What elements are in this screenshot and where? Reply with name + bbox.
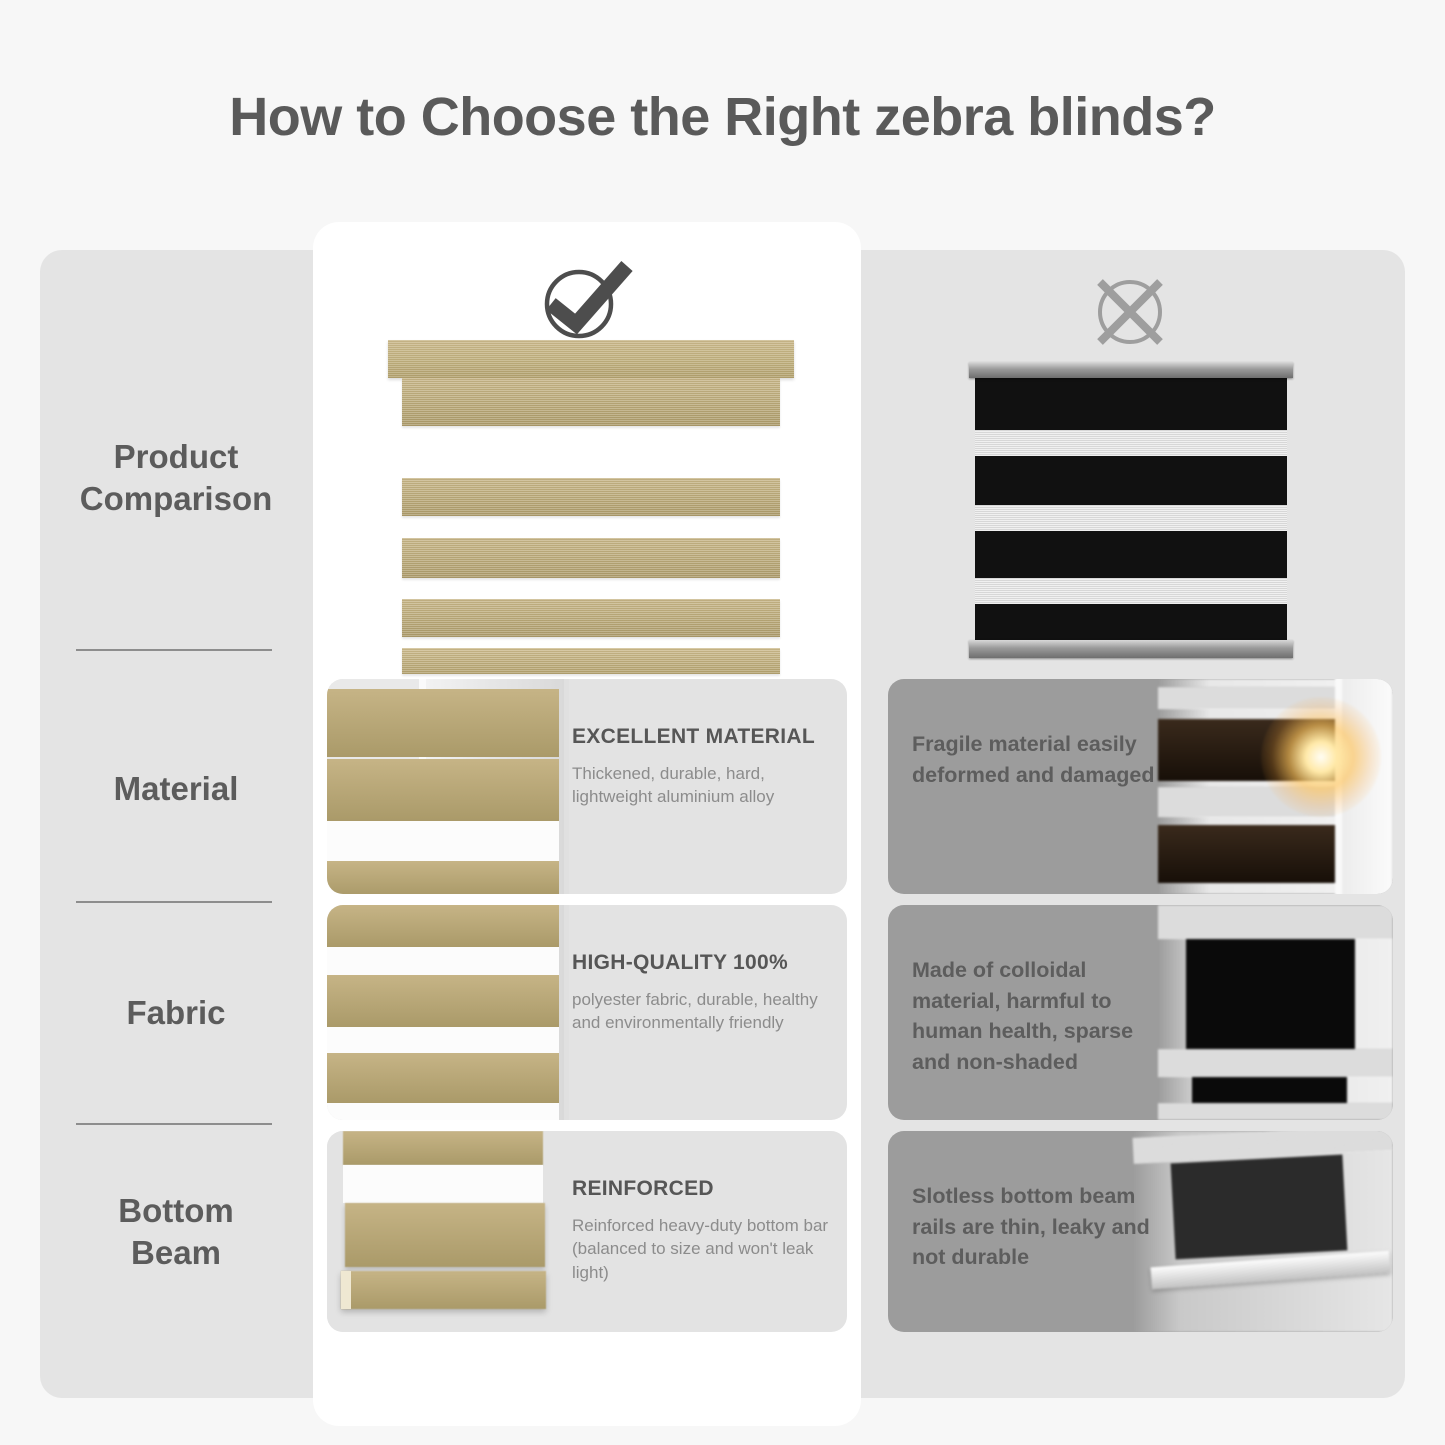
row-divider — [76, 1123, 272, 1125]
good-feature-card-bottom-beam: REINFORCED Reinforced heavy-duty bottom … — [327, 1131, 847, 1332]
sheer-band — [1158, 905, 1393, 939]
blind-headrail — [388, 340, 794, 378]
bad-feature-text: Slotless bottom beam rails are thin, lea… — [912, 1181, 1172, 1273]
row-label-bottom-beam: Bottom Beam — [40, 1190, 312, 1274]
blind-slat — [402, 478, 780, 516]
blind-slat — [402, 378, 780, 426]
blind-bottom-bar — [402, 648, 780, 674]
dark-band — [1171, 1155, 1347, 1260]
row-label-line: Beam — [40, 1232, 312, 1274]
wood-band — [327, 689, 559, 757]
blind-sheer-band — [975, 430, 1287, 456]
sun-glare — [1261, 697, 1381, 817]
cross-circle-icon — [1085, 272, 1175, 352]
row-label-product-comparison: Product Comparison — [40, 436, 312, 520]
wood-band — [327, 975, 559, 1027]
wood-band — [343, 1131, 543, 1165]
feature-title: REINFORCED — [572, 1177, 832, 1201]
black-band — [1192, 1077, 1347, 1103]
check-circle-icon — [535, 258, 635, 343]
row-label-line: Product — [40, 436, 312, 478]
wood-bottom-bar — [341, 1271, 546, 1309]
wood-bottom-bar-photo — [327, 1131, 577, 1332]
good-feature-text: HIGH-QUALITY 100% polyester fabric, dura… — [572, 951, 832, 1035]
blind-sheer-band — [975, 578, 1287, 604]
row-label-column: Product Comparison Material Fabric Botto… — [40, 250, 312, 1398]
white-band — [327, 947, 559, 975]
sparse-black-blind-photo — [1158, 905, 1393, 1120]
row-divider — [76, 649, 272, 651]
feature-title: EXCELLENT MATERIAL — [572, 725, 832, 749]
wood-band — [327, 759, 559, 821]
feature-body: Thickened, durable, hard, lightweight al… — [572, 762, 832, 809]
feature-body: Reinforced heavy-duty bottom bar (balanc… — [572, 1214, 832, 1284]
page-title: How to Choose the Right zebra blinds? — [0, 86, 1445, 148]
row-label-material: Material — [40, 768, 312, 810]
bad-feature-card-bottom-beam: Slotless bottom beam rails are thin, lea… — [888, 1131, 1393, 1332]
feature-body: polyester fabric, durable, healthy and e… — [572, 988, 832, 1035]
good-feature-card-material: EXCELLENT MATERIAL Thickened, durable, h… — [327, 679, 847, 894]
blind-top-rail — [969, 362, 1293, 378]
sheer-band — [1158, 1049, 1393, 1077]
row-label-line: Comparison — [40, 478, 312, 520]
wood-blind-closeup-photo — [327, 679, 559, 894]
row-divider — [76, 901, 272, 903]
sheer-band — [1158, 1103, 1393, 1120]
bad-feature-text: Fragile material easily deformed and dam… — [912, 729, 1172, 790]
bottom-bar-endcap — [341, 1271, 351, 1309]
row-label-fabric: Fabric — [40, 992, 312, 1034]
bad-feature-card-material: Fragile material easily deformed and dam… — [888, 679, 1393, 894]
bad-feature-card-fabric: Made of colloidal material, harmful to h… — [888, 905, 1393, 1120]
thin-bottom-rail-photo — [1133, 1131, 1393, 1332]
blind-sheer-band — [975, 505, 1287, 531]
blind-slat — [402, 599, 780, 637]
wood-blind-window-photo — [327, 905, 559, 1120]
wood-band — [327, 905, 559, 947]
sun-glare-window-photo — [1158, 679, 1393, 894]
white-band — [327, 1027, 559, 1053]
wood-band — [327, 861, 559, 894]
white-band — [343, 1165, 543, 1203]
feature-title: HIGH-QUALITY 100% — [572, 951, 832, 975]
wood-band — [345, 1203, 545, 1267]
row-label-line: Bottom — [40, 1190, 312, 1232]
good-feature-text: EXCELLENT MATERIAL Thickened, durable, h… — [572, 725, 832, 809]
white-band — [327, 821, 559, 861]
good-feature-card-fabric: HIGH-QUALITY 100% polyester fabric, dura… — [327, 905, 847, 1120]
white-band — [327, 1103, 559, 1120]
bad-feature-text: Made of colloidal material, harmful to h… — [912, 955, 1172, 1077]
blind-slat — [402, 538, 780, 578]
good-hero-blind-image — [388, 340, 794, 665]
bad-hero-blind-image — [975, 370, 1287, 650]
black-band — [1186, 939, 1355, 1049]
blind-bottom-rail — [969, 640, 1293, 658]
wood-band — [327, 1053, 559, 1103]
good-feature-text: REINFORCED Reinforced heavy-duty bottom … — [572, 1177, 832, 1284]
